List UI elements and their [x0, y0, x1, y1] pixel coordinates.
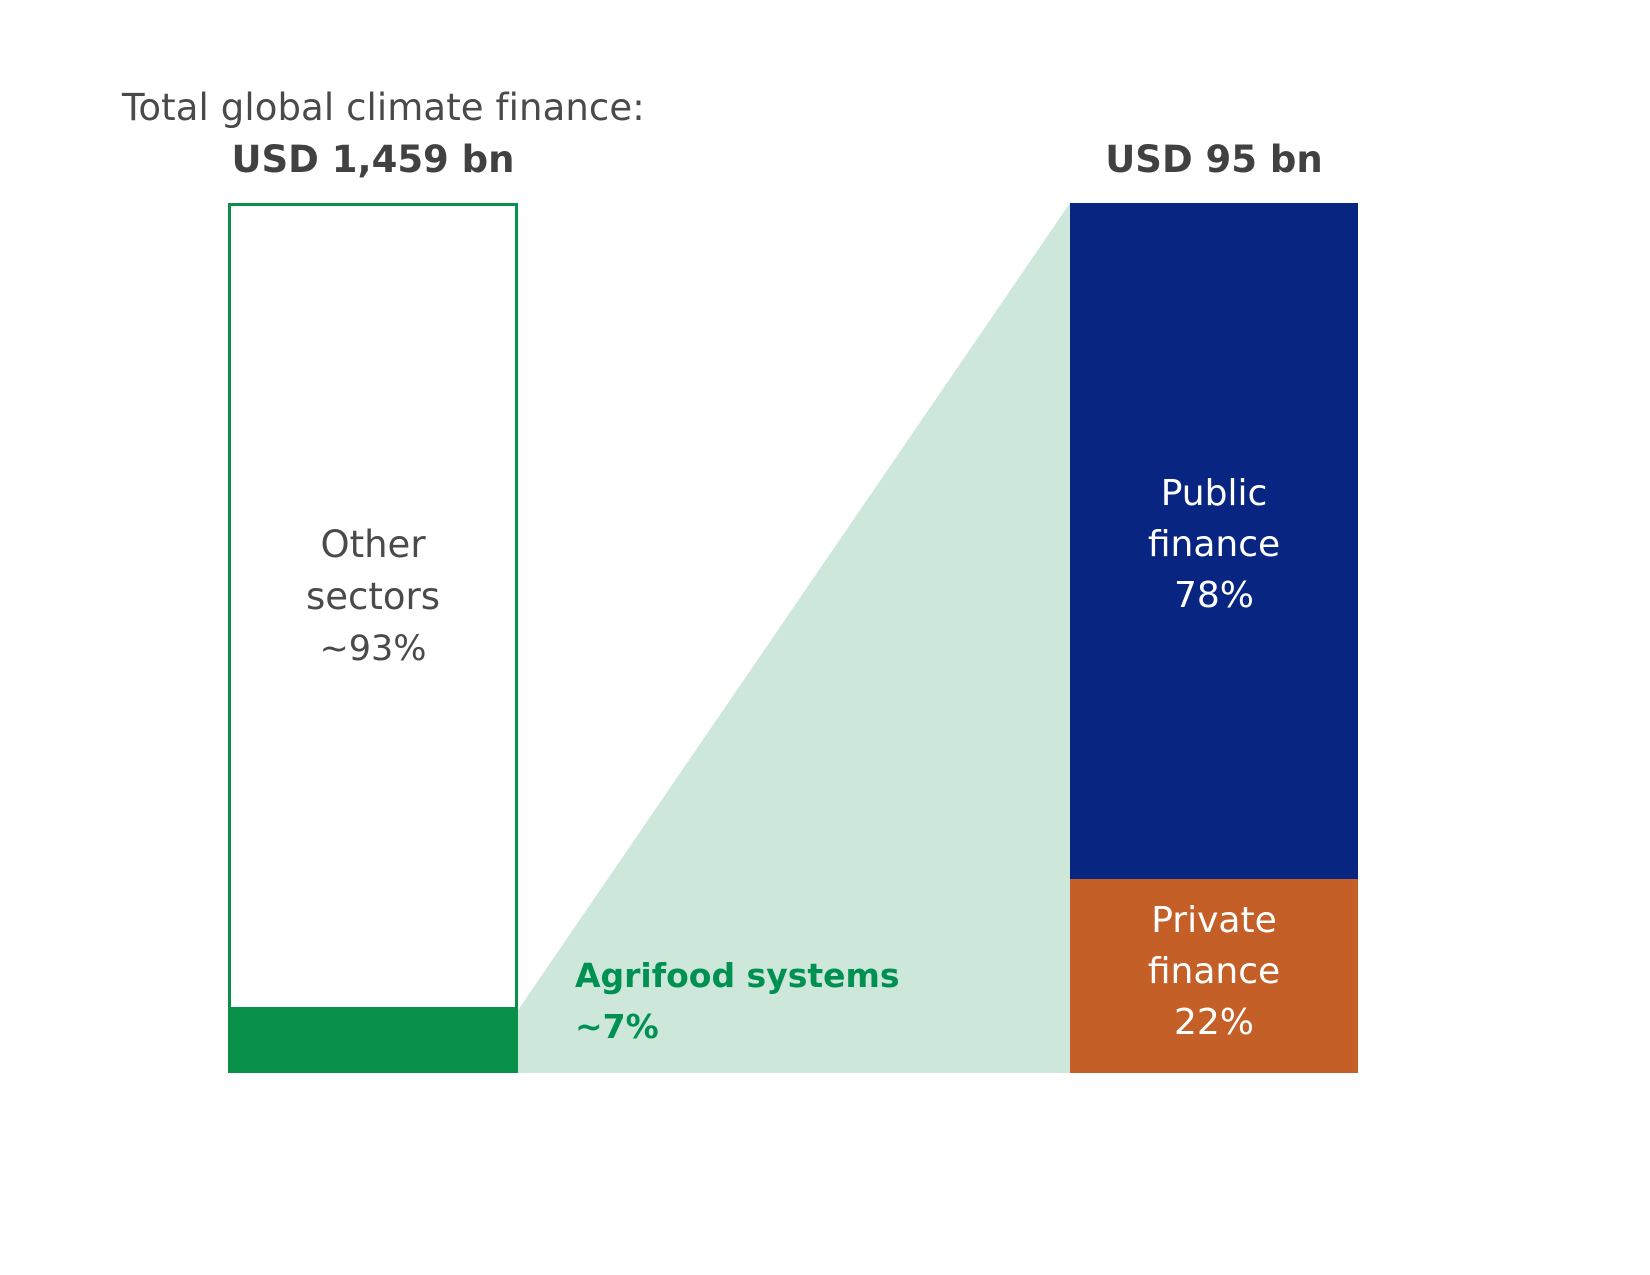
agrifood-systems-percent: ~7% — [575, 1001, 900, 1052]
private-finance-line1: Private — [1151, 900, 1277, 941]
other-sectors-label: Other sectors ~93% — [228, 519, 518, 675]
chart-canvas: Total global climate finance: USD 1,459 … — [0, 0, 1650, 1275]
private-finance-label: Private finance 22% — [1070, 895, 1358, 1048]
left-bar: Other sectors ~93% — [228, 203, 518, 1073]
other-sectors-percent: ~93% — [228, 623, 518, 675]
private-finance-percent: 22% — [1070, 997, 1358, 1048]
agrifood-systems-name: Agrifood systems — [575, 956, 900, 995]
public-finance-percent: 78% — [1070, 570, 1358, 621]
right-bar: Public finance 78% Private finance 22% — [1070, 203, 1358, 1073]
public-finance-line1: Public — [1161, 473, 1268, 514]
public-finance-label: Public finance 78% — [1070, 468, 1358, 621]
agrifood-systems-label: Agrifood systems ~7% — [575, 950, 900, 1052]
left-bar-agrifood-segment — [228, 1007, 518, 1073]
public-finance-line2: finance — [1148, 524, 1280, 565]
other-sectors-line2: sectors — [306, 575, 440, 618]
left-bar-total-value: USD 1,459 bn — [228, 138, 518, 181]
private-finance-line2: finance — [1148, 951, 1280, 992]
connector-wedge — [518, 203, 1070, 1073]
right-bar-total-value: USD 95 bn — [1070, 138, 1358, 181]
other-sectors-line1: Other — [320, 523, 425, 566]
total-finance-caption: Total global climate finance: — [122, 86, 645, 129]
